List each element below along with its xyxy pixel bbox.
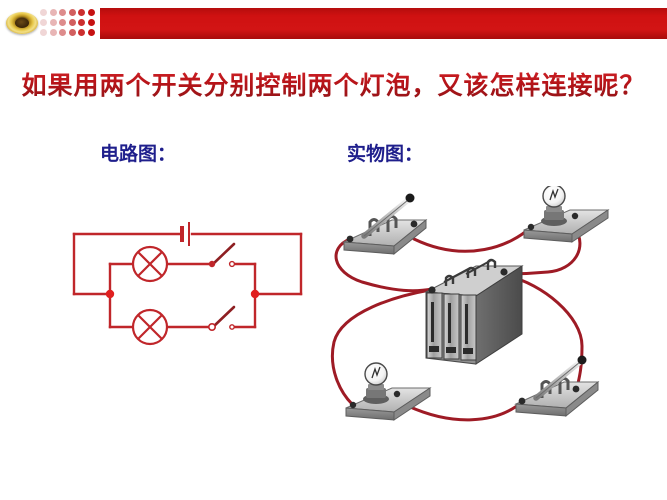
header-dot (88, 9, 95, 16)
circuit-diagram-label: 电路图： (100, 139, 176, 166)
header-dot (88, 29, 95, 36)
header-dot (88, 19, 95, 26)
header-dot (50, 19, 57, 26)
lamp-holder-top-right (524, 186, 608, 242)
real-components-wiring (326, 186, 662, 434)
parallel-circuit-schematic (68, 218, 324, 354)
battery-pack-center (426, 260, 522, 364)
battery-terminal-positive (500, 268, 507, 275)
header-dot (50, 9, 57, 16)
header-dot (78, 29, 85, 36)
page-title: 如果用两个开关分别控制两个灯泡，又该怎样连接呢？ (0, 66, 667, 102)
header-band (0, 0, 667, 48)
lamp-symbol-upper (133, 247, 167, 281)
header-dot (40, 9, 47, 16)
junction-node-right (251, 290, 259, 298)
wire-switch-tl-to-lamp-tr (414, 227, 531, 251)
lamp-symbol-lower (133, 310, 167, 344)
battery-terminal-negative (428, 286, 435, 293)
header-dot (69, 19, 76, 26)
switch-symbol-lower (209, 307, 234, 330)
knife-switch-bottom-right (516, 356, 598, 417)
red-dot-grid-icon (40, 9, 97, 39)
wire-lamp-bl-to-switch-br (408, 402, 522, 420)
header-dot (59, 19, 66, 26)
header-dot (40, 19, 47, 26)
gold-ring-logo-icon (6, 12, 38, 34)
header-dot (50, 29, 57, 36)
header-dot (59, 9, 66, 16)
header-dot (69, 9, 76, 16)
header-dot (69, 29, 76, 36)
knife-switch-top-left (344, 194, 426, 255)
switch-symbol-upper (209, 244, 235, 267)
physical-diagram-label: 实物图： (347, 139, 423, 166)
header-dot (59, 29, 66, 36)
junction-node-left (106, 290, 114, 298)
header-dot (78, 9, 85, 16)
header-dot (78, 19, 85, 26)
header-red-bar (100, 8, 667, 39)
header-dot (40, 29, 47, 36)
battery-symbol (182, 222, 189, 246)
